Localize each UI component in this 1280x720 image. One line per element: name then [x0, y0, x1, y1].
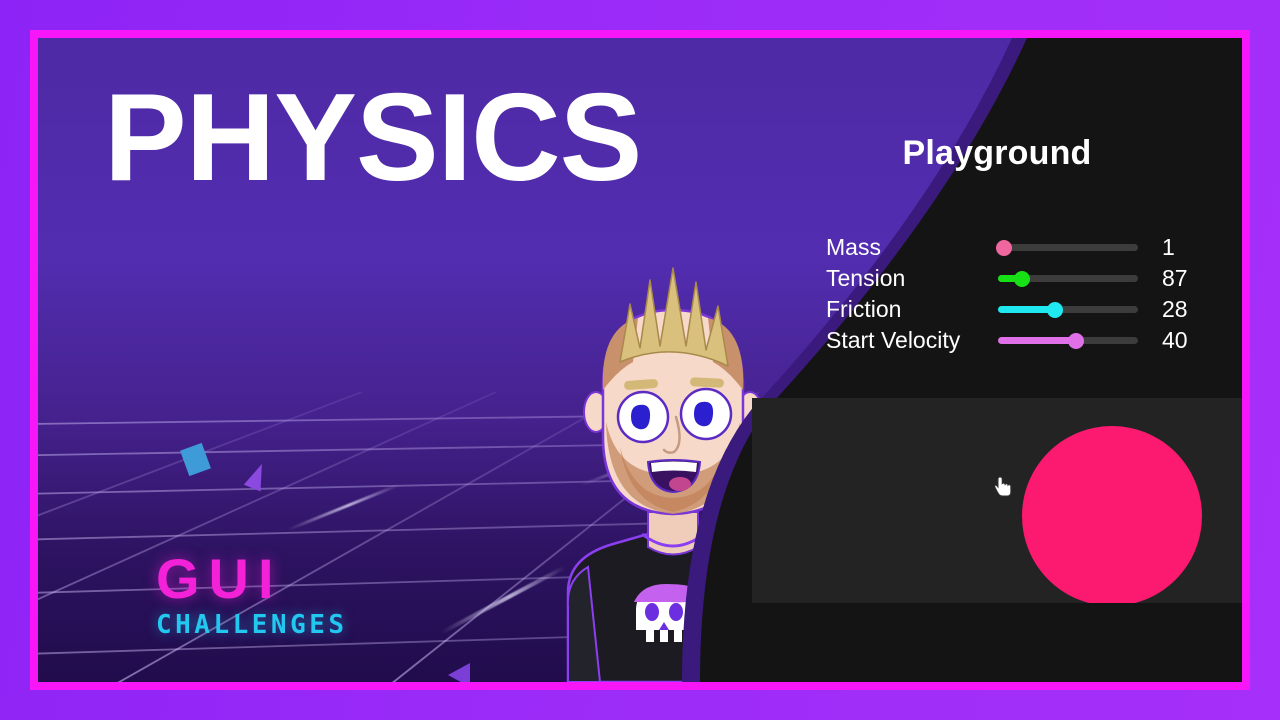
physics-playground-app: Playground Mass 1 Tension: [752, 38, 1242, 682]
logo-primary-text: GUI: [156, 551, 348, 607]
control-label-friction: Friction: [826, 296, 998, 323]
slider-fill: [998, 306, 1054, 313]
control-value-start-velocity: 40: [1162, 327, 1202, 354]
control-label-mass: Mass: [826, 234, 998, 261]
controls-list: Mass 1 Tension: [826, 232, 1226, 356]
cyan-triangle: [490, 686, 516, 690]
slider-thumb[interactable]: [1068, 333, 1084, 349]
control-row-tension: Tension 87: [826, 263, 1226, 294]
slider-thumb[interactable]: [996, 240, 1012, 256]
control-row-friction: Friction 28: [826, 294, 1226, 325]
control-label-tension: Tension: [826, 265, 998, 292]
control-value-mass: 1: [1162, 234, 1202, 261]
slider-fill: [998, 337, 1075, 344]
physics-ball[interactable]: [1022, 426, 1202, 606]
control-value-friction: 28: [1162, 296, 1202, 323]
slider-start-velocity[interactable]: [998, 331, 1138, 351]
slider-mass[interactable]: [998, 238, 1138, 258]
control-label-start-velocity: Start Velocity: [826, 327, 998, 354]
control-row-start-velocity: Start Velocity 40: [826, 325, 1226, 356]
gui-challenges-logo: GUI CHALLENGES: [156, 551, 348, 638]
purple-triangle-left: [448, 663, 470, 687]
physics-stage[interactable]: [752, 398, 1242, 603]
screenshot-root: PHYSICS GUI CHALLENGES: [0, 0, 1280, 720]
neon-frame: PHYSICS GUI CHALLENGES: [30, 30, 1250, 690]
page-title: PHYSICS: [104, 76, 641, 200]
slider-thumb[interactable]: [1014, 271, 1030, 287]
control-row-mass: Mass 1: [826, 232, 1226, 263]
app-header-panel: Playground Mass 1 Tension: [752, 38, 1242, 398]
control-value-tension: 87: [1162, 265, 1202, 292]
logo-secondary-text: CHALLENGES: [156, 612, 348, 638]
slider-friction[interactable]: [998, 300, 1138, 320]
app-heading: Playground: [752, 134, 1242, 173]
slider-track: [998, 244, 1138, 251]
slider-thumb[interactable]: [1047, 302, 1063, 318]
slider-tension[interactable]: [998, 269, 1138, 289]
stage-footer-bar: [752, 603, 1242, 682]
mouse-cursor-pointer-icon: [994, 476, 1014, 498]
